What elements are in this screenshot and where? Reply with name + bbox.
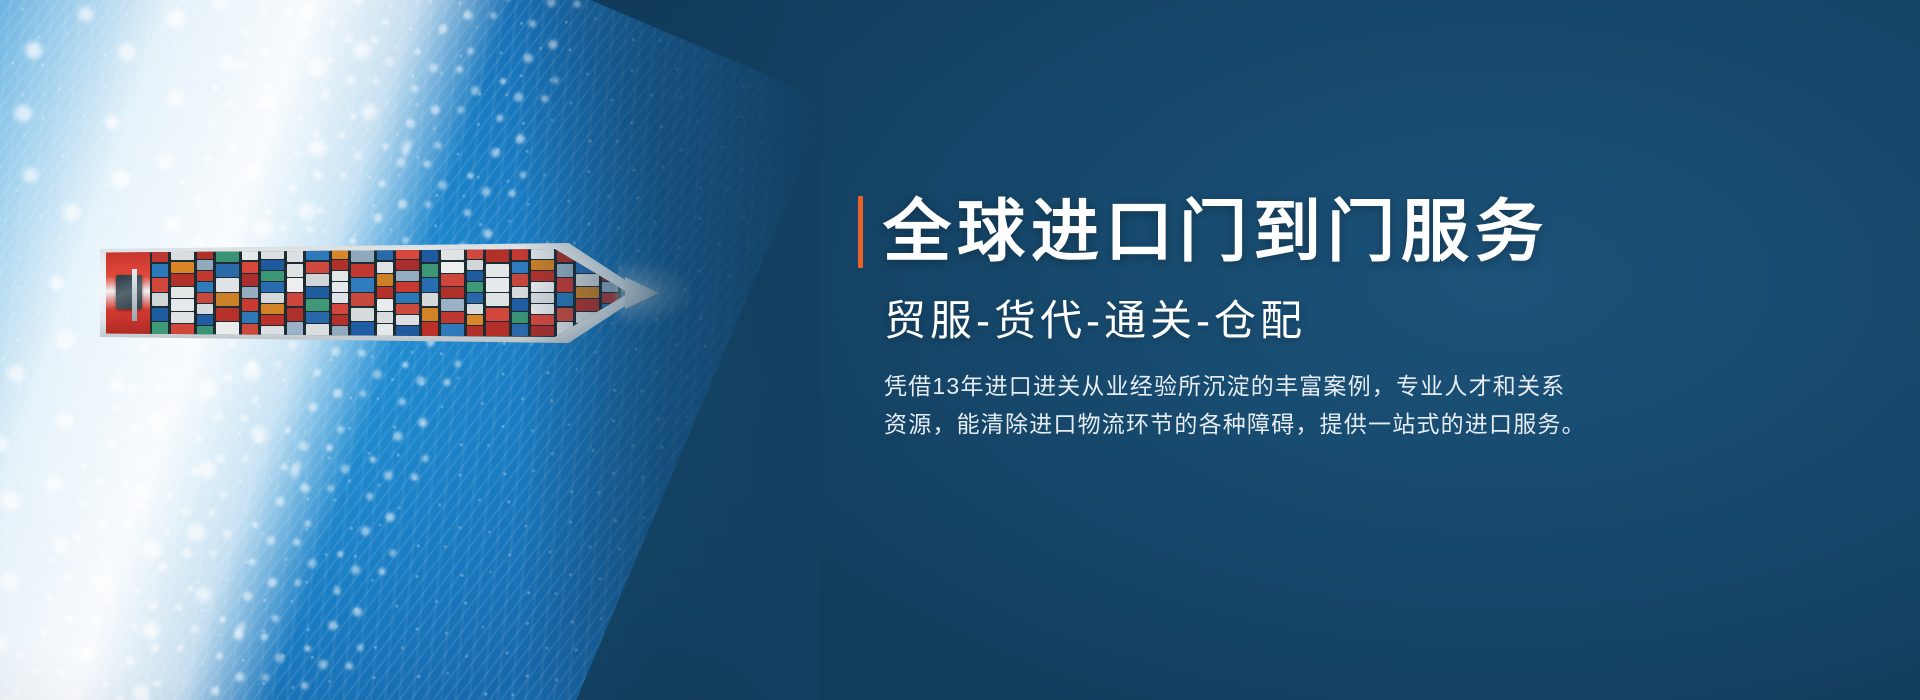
photo-fade-overlay	[520, 0, 820, 700]
description-line-1: 凭借13年进口进关从业经验所沉淀的丰富案例，专业人才和关系	[884, 368, 1734, 405]
description-line-2: 资源，能清除进口物流环节的各种障碍，提供一站式的进口服务。	[884, 406, 1734, 443]
banner-content: 全球进口门到门服务 贸服-货代-通关-仓配 凭借13年进口进关从业经验所沉淀的丰…	[858, 196, 1798, 443]
ship-bridge	[116, 275, 142, 309]
ship-mast	[132, 269, 137, 321]
banner-headline: 全球进口门到门服务	[883, 196, 1549, 268]
banner-subheadline: 贸服-货代-通关-仓配	[884, 296, 1798, 346]
headline-row: 全球进口门到门服务	[858, 196, 1798, 268]
accent-bar	[858, 196, 863, 268]
banner-photo	[0, 0, 820, 700]
banner-description: 凭借13年进口进关从业经验所沉淀的丰富案例，专业人才和关系 资源，能清除进口物流…	[884, 368, 1734, 443]
hero-banner: 全球进口门到门服务 贸服-货代-通关-仓配 凭借13年进口进关从业经验所沉淀的丰…	[0, 0, 1920, 700]
